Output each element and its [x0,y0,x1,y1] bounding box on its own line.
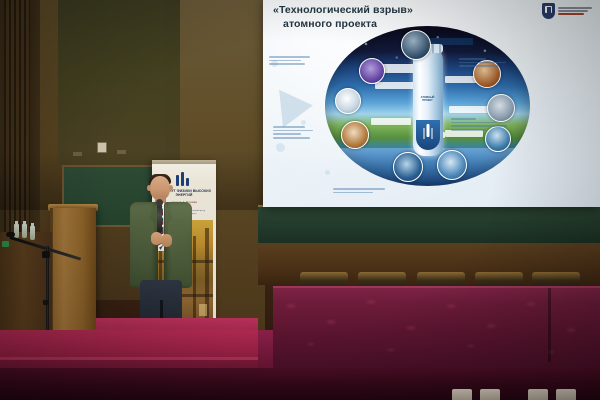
water-bottle [30,226,35,240]
slide-annotation-bottom [333,188,423,195]
water-bottle [22,224,27,238]
slide-annotation-right-lower [451,118,513,133]
nuclear-vessel-photo-icon [437,150,467,180]
callout-chip [449,106,489,113]
logo-text-line1 [558,7,592,9]
bomb-emblem [416,120,440,150]
wooden-lectern [50,208,96,348]
conference-photo-scene: «Технологический взрыв» атомного проекта [0,0,600,400]
microphone-clamp [42,251,50,258]
light-switch-plate-icon [97,142,107,153]
handheld-microphone-icon [157,203,162,233]
atomic-project-infographic: АТОМНЫЙ ПРОЕКТ [325,26,530,186]
slide-logo [542,3,592,19]
slide-decor-dot [276,143,285,152]
wall-panel-upper [58,0,180,165]
wall-marker-right [117,150,126,154]
logo-wordmark [558,7,592,15]
central-bomb-graphic: АТОМНЫЙ ПРОЕКТ [413,46,443,156]
callout-chip [371,118,411,125]
slide-annotation-left-upper [269,56,317,67]
shield-icon [542,3,555,19]
logo-text-line3 [558,13,584,15]
slide-annotation-right-upper [459,58,515,69]
front-row-seat [528,389,548,400]
tablecloth-seam [548,288,551,362]
satellite-space-photo-icon [401,30,431,60]
presenter-ear-left [147,185,151,191]
bomb-center-label: АТОМНЫЙ ПРОЕКТ [415,96,441,103]
slide-decor-dot [301,120,306,125]
water-bottle [14,224,19,238]
banner-top-rail [152,160,216,164]
wall-marker-left [73,152,82,156]
callout-chip [375,82,415,89]
geology-drilling-photo-icon [341,121,369,149]
infographic-circle: АТОМНЫЙ ПРОЕКТ [325,26,530,186]
projection-screen: «Технологический взрыв» атомного проекта [263,0,600,207]
slide-title-line1: «Технологический взрыв» [273,4,413,16]
green-chalkboard-right [258,207,600,243]
foreground-shadow [0,368,600,400]
submarine-photo-icon [393,152,423,182]
atom-crystal-photo-icon [359,58,385,84]
logo-text-line2 [558,10,588,12]
presenter-ear-right [169,185,173,191]
green-box [2,241,9,247]
slide-annotation-left-lower [273,126,319,141]
laboratory-equipment-photo-icon [335,88,361,114]
front-row-seat [452,389,472,400]
microphone-height-clamp [43,300,49,305]
front-row-seat [556,389,576,400]
slide-watermark-triangle-icon [279,86,315,127]
microphone-icon [6,232,15,237]
presenter-hand-right [161,234,172,247]
front-row-seat [480,389,500,400]
